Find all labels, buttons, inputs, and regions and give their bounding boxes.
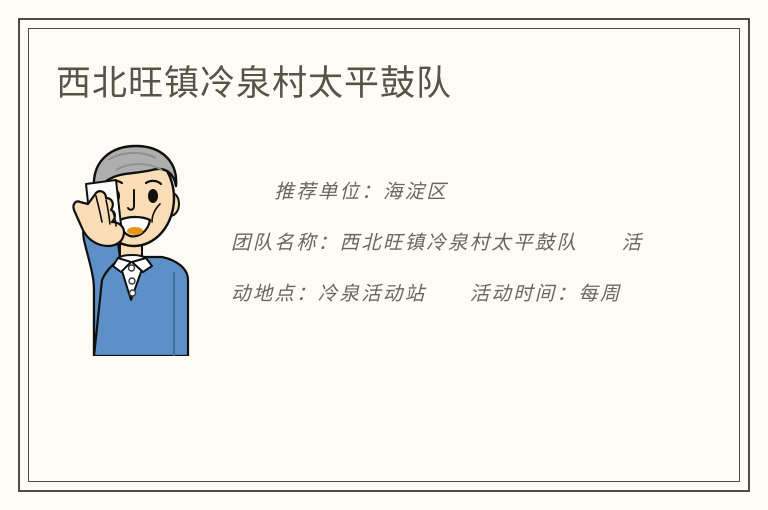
page-title: 西北旺镇冷泉村太平鼓队: [56, 62, 452, 106]
poster-card: 西北旺镇冷泉村太平鼓队: [0, 0, 768, 510]
description-text: 推荐单位：海淀区 团队名称：西北旺镇冷泉村太平鼓队 活动地点：冷泉活动站 活动时…: [231, 166, 647, 319]
elderly-man-on-phone-illustration: [58, 140, 204, 356]
